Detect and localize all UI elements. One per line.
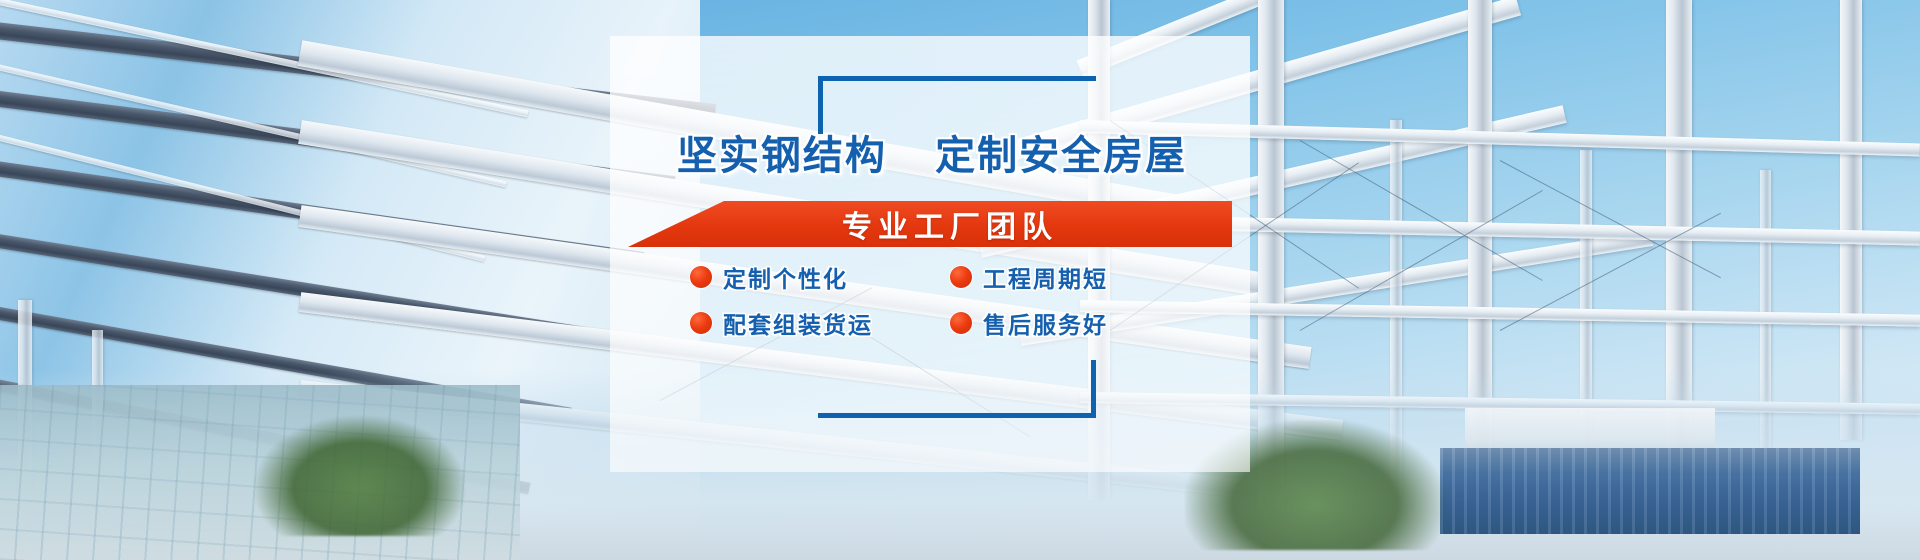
feature-item: 配套组装货运 <box>628 306 928 340</box>
feature-item: 定制个性化 <box>628 260 928 294</box>
feature-label: 配套组装货运 <box>723 306 873 340</box>
feature-item: 工程周期短 <box>932 260 1232 294</box>
feature-item: 售后服务好 <box>932 306 1232 340</box>
blue-roof-building <box>1440 448 1860 534</box>
bullet-dot-icon <box>950 266 972 288</box>
feature-label: 定制个性化 <box>723 260 848 294</box>
bullet-dot-icon <box>690 266 712 288</box>
feature-list: 定制个性化 工程周期短 配套组装货运 售后服务好 <box>628 260 1232 340</box>
headline: 坚实钢结构 定制安全房屋 <box>632 136 1232 176</box>
feature-label: 工程周期短 <box>983 260 1108 294</box>
headline-part-1: 坚实钢结构 <box>677 134 887 178</box>
banner-content: 坚实钢结构 定制安全房屋 专业工厂团队 定制个性化 工程周期短 配套组装货运 <box>610 36 1250 472</box>
bullet-dot-icon <box>950 312 972 334</box>
ribbon-label: 专业工厂团队 <box>628 201 1232 247</box>
hero-banner: 坚实钢结构 定制安全房屋 专业工厂团队 定制个性化 工程周期短 配套组装货运 <box>0 0 1920 560</box>
ribbon-badge: 专业工厂团队 <box>628 201 1232 247</box>
headline-part-2: 定制安全房屋 <box>935 134 1187 178</box>
feature-label: 售后服务好 <box>983 306 1108 340</box>
bullet-dot-icon <box>690 312 712 334</box>
tree-foliage <box>255 416 465 536</box>
